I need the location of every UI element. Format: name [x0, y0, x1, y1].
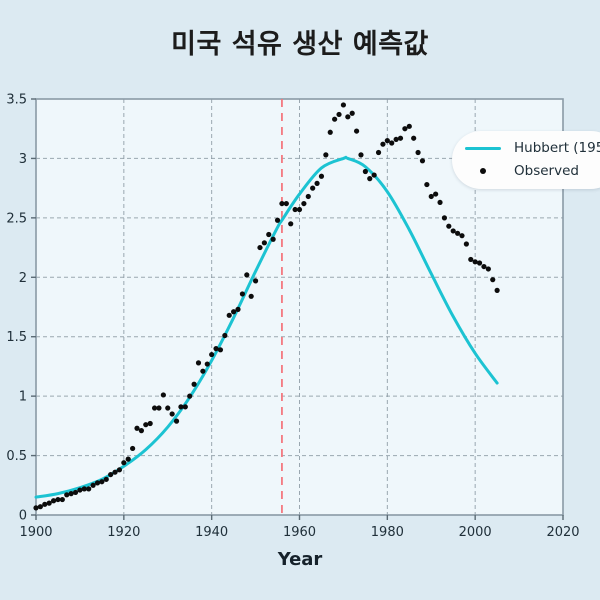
- svg-text:2.5: 2.5: [6, 211, 27, 226]
- svg-text:1940: 1940: [195, 525, 228, 540]
- line-key-icon: [452, 147, 514, 150]
- svg-text:1960: 1960: [283, 525, 316, 540]
- x-axis-title: Year: [277, 549, 323, 570]
- x-tick-labels: 1900192019401960198020002020: [19, 525, 579, 540]
- svg-text:1900: 1900: [19, 525, 52, 540]
- chart-figure: 미국 석유 생산 예측값 00.511.522.533.5 1900192019…: [0, 0, 600, 600]
- legend-label-hubbert: Hubbert (1956): [514, 140, 600, 156]
- svg-text:1980: 1980: [371, 525, 404, 540]
- legend-label-observed: Observed: [514, 163, 579, 179]
- svg-text:3.5: 3.5: [6, 93, 27, 108]
- svg-text:0: 0: [19, 509, 27, 524]
- svg-text:2000: 2000: [459, 525, 492, 540]
- chart-legend[interactable]: Hubbert (1956) Observed: [452, 131, 600, 189]
- svg-text:3: 3: [19, 152, 27, 167]
- dot-key-icon: [452, 168, 514, 174]
- y-tick-labels: 00.511.522.533.5: [6, 93, 27, 524]
- legend-item-observed[interactable]: Observed: [452, 159, 600, 183]
- legend-item-hubbert[interactable]: Hubbert (1956): [452, 136, 600, 160]
- svg-text:1920: 1920: [107, 525, 140, 540]
- svg-text:2: 2: [19, 271, 27, 286]
- svg-text:2020: 2020: [546, 525, 579, 540]
- svg-text:1: 1: [19, 390, 27, 405]
- svg-text:0.5: 0.5: [6, 449, 27, 464]
- svg-text:1.5: 1.5: [6, 330, 27, 345]
- plot-canvas: 00.511.522.533.5 19001920194019601980200…: [0, 0, 600, 600]
